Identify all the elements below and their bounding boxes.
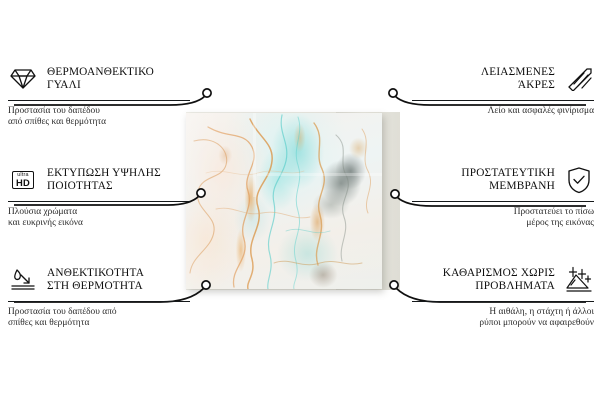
feature-divider [8,301,190,302]
feature-header: ΛΕΙΑΣΜΕΝΕΣ ΆΚΡΕΣ [412,62,594,96]
feature-high-quality-print: ultra HD ΕΚΤΥΠΩΣΗ ΥΨΗΛΗΣ ΠΟΙΟΤΗΤΑΣ Πλούσ… [8,163,190,230]
feature-header: ΘΕΡΜΟΑΝΘΕΚΤΙΚΟ ΓΥΑΛΙ [8,62,190,96]
feature-divider [8,100,190,101]
feature-divider [8,201,190,202]
feature-divider [412,201,594,202]
feature-header: ΑΝΘΕΚΤΙΚΟΤΗΤΑ ΣΤΗ ΘΕΡΜΟΤΗΤΑ [8,263,190,297]
feature-title: ΘΕΡΜΟΑΝΘΕΚΤΙΚΟ ΓΥΑΛΙ [47,66,154,93]
glass-reflection [186,113,382,289]
feature-title: ΠΡΟΣΤΑΤΕΥΤΙΚΗ ΜΕΜΒΡΑΝΗ [461,167,555,194]
window-reflection-vertical [253,113,256,197]
easy-cleaning-icon [564,265,594,295]
polished-edges-icon [564,64,594,94]
connector-dot-left-1 [203,89,211,97]
feature-title: ΑΝΘΕΚΤΙΚΟΤΗΤΑ ΣΤΗ ΘΕΡΜΟΤΗΤΑ [47,267,144,294]
feature-description: Η αιθάλη, η στάχτη ή άλλοι ρύποι μπορούν… [412,307,594,330]
ultra-hd-icon-bottom-text: HD [16,178,30,187]
feature-divider [412,301,594,302]
shield-check-icon [564,165,594,195]
feature-header: ultra HD ΕΚΤΥΠΩΣΗ ΥΨΗΛΗΣ ΠΟΙΟΤΗΤΑΣ [8,163,190,197]
feature-protective-film: ΠΡΟΣΤΑΤΕΥΤΙΚΗ ΜΕΜΒΡΑΝΗ Προστατεύει το πί… [412,163,594,230]
feature-description: Λείο και ασφαλές φινίρισμα [412,106,594,117]
diamond-icon [8,64,38,94]
product-scene [186,112,400,290]
feature-header: ΠΡΟΣΤΑΤΕΥΤΙΚΗ ΜΕΜΒΡΑΝΗ [412,163,594,197]
feature-title: ΛΕΙΑΣΜΕΝΕΣ ΆΚΡΕΣ [481,66,555,93]
feature-description: Προστατεύει το πίσω μέρος της εικόνας [412,207,594,230]
connector-dot-right-1 [389,89,397,97]
feature-header: ΚΑΘΑΡΙΣΜΟΣ ΧΩΡΙΣ ΠΡΟΒΛΗΜΑΤΑ [412,263,594,297]
heat-resistance-icon [8,265,38,295]
ultra-hd-icon: ultra HD [8,165,38,195]
feature-divider [412,100,594,101]
product-infographic: ΘΕΡΜΟΑΝΘΕΚΤΙΚΟ ΓΥΑΛΙ Προστασία του δαπέδ… [0,0,600,400]
feature-polished-edges: ΛΕΙΑΣΜΕΝΕΣ ΆΚΡΕΣ Λείο και ασφαλές φινίρι… [412,62,594,117]
glass-panel-product [186,113,382,289]
window-reflection-horizontal [257,173,382,176]
feature-description: Προστασία του δαπέδου από σπίθες και θερ… [8,106,190,129]
feature-title: ΕΚΤΥΠΩΣΗ ΥΨΗΛΗΣ ΠΟΙΟΤΗΤΑΣ [47,167,161,194]
feature-heat-resistant-glass: ΘΕΡΜΟΑΝΘΕΚΤΙΚΟ ΓΥΑΛΙ Προστασία του δαπέδ… [8,62,190,129]
feature-description: Πλούσια χρώματα και ευκρινής εικόνα [8,207,190,230]
feature-description: Προστασία του δαπέδου από σπίθες και θερ… [8,307,190,330]
feature-easy-cleaning: ΚΑΘΑΡΙΣΜΟΣ ΧΩΡΙΣ ΠΡΟΒΛΗΜΑΤΑ Η αιθάλη, η … [412,263,594,330]
feature-title: ΚΑΘΑΡΙΣΜΟΣ ΧΩΡΙΣ ΠΡΟΒΛΗΜΑΤΑ [443,267,555,294]
feature-heat-resistance: ΑΝΘΕΚΤΙΚΟΤΗΤΑ ΣΤΗ ΘΕΡΜΟΤΗΤΑ Προστασία το… [8,263,190,330]
